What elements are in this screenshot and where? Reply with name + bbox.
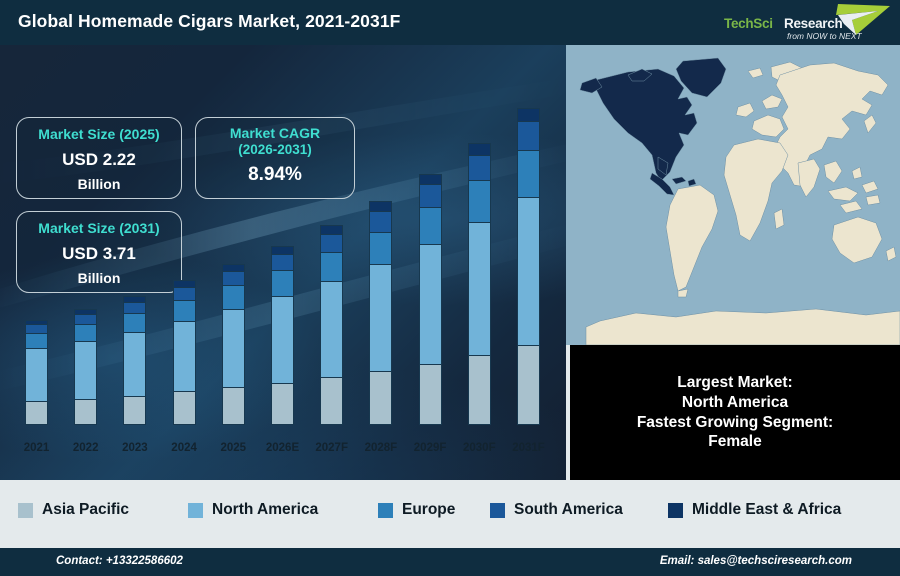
footer-email: Email: sales@techsciresearch.com <box>660 555 852 567</box>
infographic-page: Global Homemade Cigars Market, 2021-2031… <box>0 0 900 576</box>
bar-segment-asia-pacific <box>123 396 146 425</box>
bar-segment-north-america <box>222 309 245 387</box>
legend-label: Asia Pacific <box>42 501 129 519</box>
legend-swatch-icon <box>18 503 33 518</box>
legend-swatch-icon <box>490 503 505 518</box>
x-axis-label-2024: 2024 <box>158 442 210 454</box>
x-axis-label-2025: 2025 <box>207 442 259 454</box>
bar-segment-north-america <box>468 222 491 355</box>
bar-segment-europe <box>468 180 491 222</box>
x-axis-label-2028F: 2028F <box>355 442 407 454</box>
bar-segment-north-america <box>369 264 392 371</box>
svg-text:Research: Research <box>784 16 842 31</box>
bar-2026E <box>271 246 294 425</box>
callout-line-1: Largest Market: <box>677 373 792 393</box>
bar-segment-asia-pacific <box>74 399 97 425</box>
bar-segment-asia-pacific <box>222 387 245 425</box>
bar-2028F <box>369 201 392 425</box>
stacked-bar-chart <box>0 45 566 480</box>
legend-label: Middle East & Africa <box>692 501 841 519</box>
x-axis-label-2027F: 2027F <box>306 442 358 454</box>
bar-2024 <box>173 280 196 425</box>
page-title: Global Homemade Cigars Market, 2021-2031… <box>18 11 400 32</box>
bar-segment-europe <box>271 270 294 296</box>
callout-box: Largest Market: North America Fastest Gr… <box>570 345 900 480</box>
bar-segment-asia-pacific <box>419 364 442 425</box>
bar-segment-asia-pacific <box>271 383 294 425</box>
bar-2022 <box>74 309 97 425</box>
chart-legend: Asia PacificNorth AmericaEuropeSouth Ame… <box>0 480 900 540</box>
chart-x-axis-labels: 202120222023202420252026E2027F2028F2029F… <box>0 442 566 462</box>
legend-swatch-icon <box>668 503 683 518</box>
bar-segment-asia-pacific <box>468 355 491 425</box>
bar-segment-south-america <box>419 184 442 207</box>
legend-item-europe[interactable]: Europe <box>378 501 455 519</box>
bar-segment-middle-east-africa <box>222 264 245 272</box>
world-map-icon <box>566 45 900 345</box>
svg-text:TechSci: TechSci <box>724 16 773 31</box>
bar-segment-middle-east-africa <box>369 201 392 211</box>
bar-segment-north-america <box>25 348 48 401</box>
legend-swatch-icon <box>188 503 203 518</box>
callout-line-4: Female <box>708 432 761 452</box>
bar-segment-south-america <box>271 254 294 270</box>
bar-segment-europe <box>320 252 343 281</box>
bar-2031F <box>517 108 540 425</box>
legend-item-south-america[interactable]: South America <box>490 501 623 519</box>
callout-line-3: Fastest Growing Segment: <box>637 413 833 433</box>
chart-panel: Market Size (2025) USD 2.22 Billion Mark… <box>0 45 566 480</box>
bar-segment-south-america <box>369 211 392 231</box>
bar-segment-south-america <box>74 314 97 324</box>
bar-segment-europe <box>222 285 245 309</box>
legend-label: South America <box>514 501 623 519</box>
bar-segment-middle-east-africa <box>320 225 343 234</box>
bar-2029F <box>419 174 442 425</box>
legend-item-north-america[interactable]: North America <box>188 501 318 519</box>
x-axis-label-2031F: 2031F <box>503 442 555 454</box>
bar-2023 <box>123 296 146 425</box>
bar-2025 <box>222 264 245 425</box>
x-axis-label-2030F: 2030F <box>453 442 505 454</box>
bar-segment-asia-pacific <box>369 371 392 425</box>
legend-swatch-icon <box>378 503 393 518</box>
logo-icon: TechSci Research from NOW to NEXT <box>710 2 892 44</box>
bar-segment-north-america <box>320 281 343 377</box>
bar-segment-europe <box>173 300 196 321</box>
bar-segment-europe <box>25 333 48 348</box>
bar-segment-south-america <box>517 121 540 150</box>
svg-text:from NOW to NEXT: from NOW to NEXT <box>787 31 862 41</box>
legend-item-asia-pacific[interactable]: Asia Pacific <box>18 501 129 519</box>
bar-segment-north-america <box>123 332 146 396</box>
x-axis-label-2021: 2021 <box>11 442 63 454</box>
bar-segment-asia-pacific <box>173 391 196 425</box>
legend-label: Europe <box>402 501 455 519</box>
bar-segment-south-america <box>123 302 146 313</box>
bar-segment-europe <box>74 324 97 341</box>
bar-segment-south-america <box>25 324 48 333</box>
x-axis-label-2029F: 2029F <box>404 442 456 454</box>
x-axis-label-2026E: 2026E <box>257 442 309 454</box>
bar-segment-europe <box>517 150 540 197</box>
bar-segment-north-america <box>173 321 196 392</box>
world-map <box>566 45 900 345</box>
bar-segment-asia-pacific <box>517 345 540 425</box>
bar-segment-asia-pacific <box>320 377 343 425</box>
bar-segment-europe <box>419 207 442 244</box>
header-bar: Global Homemade Cigars Market, 2021-2031… <box>0 0 900 45</box>
bar-segment-north-america <box>74 341 97 399</box>
bar-2027F <box>320 225 343 425</box>
x-axis-label-2022: 2022 <box>60 442 112 454</box>
x-axis-label-2023: 2023 <box>109 442 161 454</box>
footer-contact: Contact: +13322586602 <box>56 555 183 567</box>
bar-2030F <box>468 143 491 425</box>
legend-item-middle-east-africa[interactable]: Middle East & Africa <box>668 501 841 519</box>
legend-label: North America <box>212 501 318 519</box>
bar-segment-south-america <box>173 287 196 300</box>
bar-segment-middle-east-africa <box>419 174 442 185</box>
bar-segment-north-america <box>517 197 540 345</box>
bar-2021 <box>25 320 48 425</box>
bar-segment-middle-east-africa <box>271 246 294 254</box>
bar-segment-europe <box>123 313 146 332</box>
footer-bar: Contact: +13322586602 Email: sales@techs… <box>0 548 900 576</box>
bar-segment-middle-east-africa <box>517 108 540 121</box>
bar-segment-north-america <box>419 244 442 363</box>
bar-segment-middle-east-africa <box>173 280 196 287</box>
bar-segment-south-america <box>222 271 245 285</box>
callout-line-2: North America <box>682 393 788 413</box>
bar-segment-south-america <box>468 155 491 180</box>
bar-segment-north-america <box>271 296 294 383</box>
techsci-research-logo: TechSci Research from NOW to NEXT <box>710 2 892 44</box>
bar-segment-asia-pacific <box>25 401 48 425</box>
bar-segment-middle-east-africa <box>468 143 491 155</box>
bar-segment-europe <box>369 232 392 265</box>
bar-segment-south-america <box>320 234 343 252</box>
